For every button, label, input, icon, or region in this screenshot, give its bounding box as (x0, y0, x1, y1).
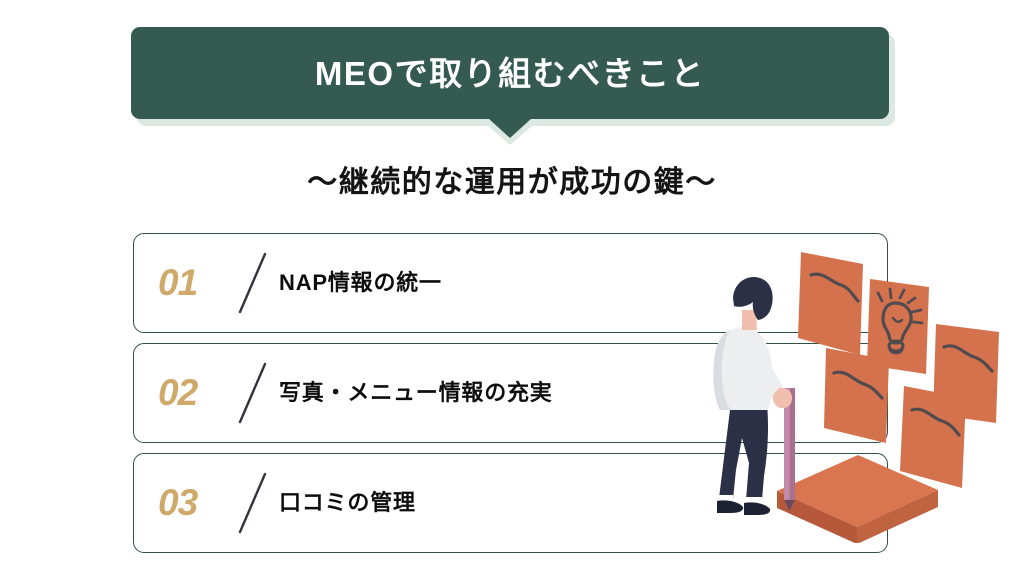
down-triangle-notch-icon (488, 118, 532, 138)
step-label: 口コミの管理 (279, 490, 416, 516)
diagonal-slash-icon (234, 250, 272, 316)
header-banner: MEOで取り組むべきこと (131, 27, 889, 119)
step-label: NAP情報の統一 (279, 270, 442, 296)
step-number: 03 (158, 484, 197, 521)
step-number: 02 (158, 374, 197, 411)
step-label: 写真・メニュー情報の充実 (279, 380, 553, 406)
slide-canvas: MEOで取り組むべきこと 〜継続的な運用が成功の鍵〜 01 NAP情報の統一 0… (0, 0, 1024, 576)
step-number: 01 (158, 264, 197, 301)
diagonal-slash-icon (234, 470, 272, 536)
note-right-icon (933, 324, 999, 423)
steps-list: 01 NAP情報の統一 02 写真・メニュー情報の充実 03 (133, 233, 888, 563)
page-title: MEOで取り組むべきこと (315, 57, 705, 90)
banner-body: MEOで取り組むべきこと (131, 27, 889, 119)
diagonal-slash-icon (234, 360, 272, 426)
subtitle: 〜継続的な運用が成功の鍵〜 (0, 165, 1024, 201)
list-item[interactable]: 03 口コミの管理 (133, 453, 888, 553)
list-item[interactable]: 01 NAP情報の統一 (133, 233, 888, 333)
list-item[interactable]: 02 写真・メニュー情報の充実 (133, 343, 888, 443)
note-bottom-icon (900, 386, 966, 488)
